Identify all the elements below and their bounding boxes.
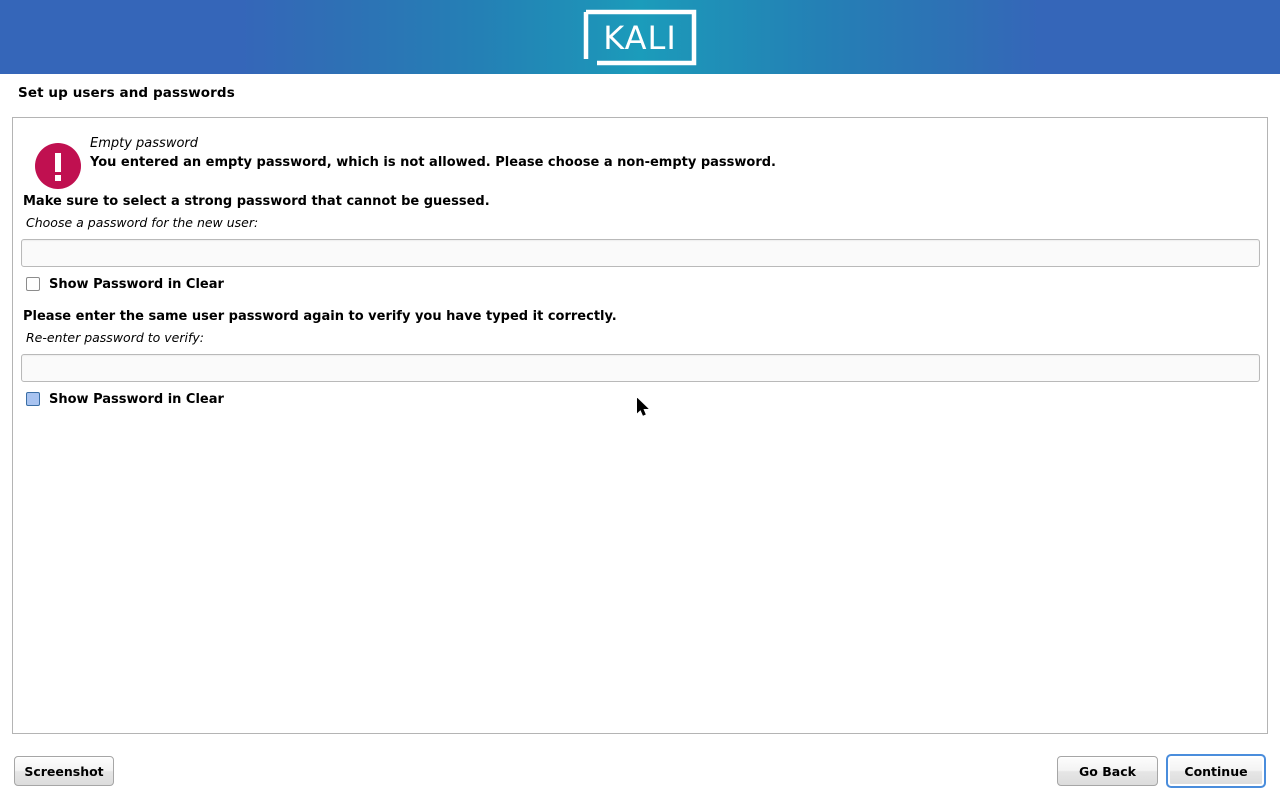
banner-right-stripe — [1040, 0, 1280, 74]
screenshot-button[interactable]: Screenshot — [14, 756, 114, 786]
error-exclamation-icon — [35, 143, 81, 189]
error-title: Empty password — [90, 136, 198, 151]
banner-left-stripe — [0, 0, 240, 74]
go-back-button[interactable]: Go Back — [1057, 756, 1158, 786]
svg-text:KALI: KALI — [603, 19, 677, 57]
page-title: Set up users and passwords — [18, 85, 235, 101]
content-panel: Empty password You entered an empty pass… — [12, 117, 1268, 734]
show-password-checkbox-row-2[interactable]: Show Password in Clear — [26, 390, 224, 408]
verify-password-hint: Please enter the same user password agai… — [23, 309, 617, 324]
installer-banner: KALI — [0, 0, 1280, 74]
error-message: You entered an empty password, which is … — [90, 155, 776, 170]
error-banner: Empty password You entered an empty pass… — [22, 127, 1260, 189]
password-field-label: Choose a password for the new user: — [26, 215, 258, 230]
kali-logo: KALI — [583, 9, 697, 66]
verify-password-field-label: Re-enter password to verify: — [26, 330, 204, 345]
show-password-checkbox-label-2: Show Password in Clear — [49, 392, 224, 407]
exclamation-dot — [55, 175, 61, 181]
show-password-checkbox-2[interactable] — [26, 392, 40, 406]
show-password-checkbox-label-1: Show Password in Clear — [49, 277, 224, 292]
password-input[interactable] — [21, 239, 1260, 267]
verify-password-input[interactable] — [21, 354, 1260, 382]
exclamation-bar — [55, 153, 61, 172]
show-password-checkbox-row-1[interactable]: Show Password in Clear — [26, 275, 224, 293]
password-strength-hint: Make sure to select a strong password th… — [23, 194, 490, 209]
continue-button[interactable]: Continue — [1166, 754, 1266, 788]
show-password-checkbox-1[interactable] — [26, 277, 40, 291]
